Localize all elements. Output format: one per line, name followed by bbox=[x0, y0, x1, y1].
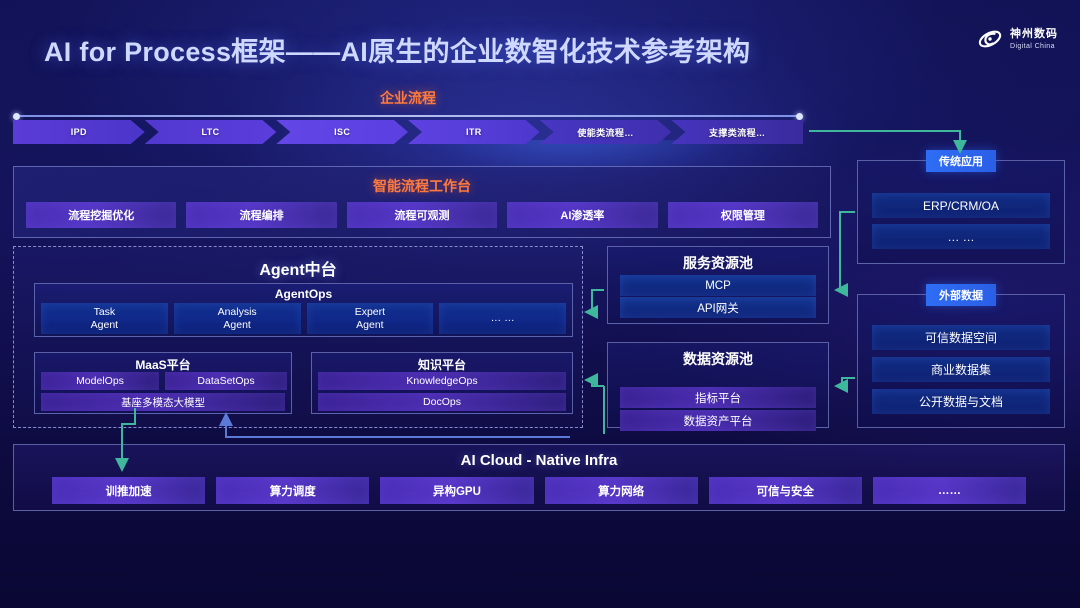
process-chevron-bar: IPD LTC ISC ITR 使能类流程… 支撑类流程… bbox=[13, 120, 803, 144]
workbench-panel: 智能流程工作台 流程挖掘优化 流程编排 流程可观测 AI渗透率 权限管理 bbox=[13, 166, 831, 238]
infra-item-heterogeneous-gpu[interactable]: 异构GPU bbox=[380, 477, 533, 504]
wire-data-pool-to-knowledge bbox=[586, 380, 604, 386]
maas-item-modelops[interactable]: ModelOps bbox=[41, 372, 159, 390]
swirl-logo-icon bbox=[977, 26, 1003, 52]
legacy-apps-panel: 传统应用 ERP/CRM/OA … … bbox=[857, 160, 1065, 264]
process-step-isc[interactable]: ISC bbox=[276, 120, 408, 144]
logo-cn-text: 神州数码 bbox=[1010, 29, 1058, 40]
service-pool-panel: 服务资源池 MCP API网关 bbox=[607, 246, 829, 324]
process-rail-line bbox=[16, 115, 800, 117]
process-step-label: LTC bbox=[201, 127, 219, 137]
external-data-tag: 外部数据 bbox=[926, 284, 996, 306]
process-rail-dot-left bbox=[13, 113, 20, 120]
agent-card-line1: Expert bbox=[355, 306, 385, 319]
wire-legacy-to-service-pool bbox=[836, 212, 855, 290]
infra-item-trust-security[interactable]: 可信与安全 bbox=[709, 477, 862, 504]
wire-process-to-legacy bbox=[809, 131, 960, 152]
data-pool-item-metrics[interactable]: 指标平台 bbox=[620, 387, 816, 408]
knowledge-panel: 知识平台 KnowledgeOps DocOps bbox=[311, 352, 573, 414]
slide-canvas: AI for Process框架——AI原生的企业数智化技术参考架构 神州数码 … bbox=[0, 0, 1080, 608]
external-data-panel: 外部数据 可信数据空间 商业数据集 公开数据与文档 bbox=[857, 294, 1065, 428]
infra-panel: AI Cloud - Native Infra 训推加速 算力调度 异构GPU … bbox=[13, 444, 1065, 511]
agent-card-expert[interactable]: Expert Agent bbox=[307, 303, 434, 334]
process-section-title: 企业流程 bbox=[0, 88, 816, 108]
agent-card-line1: Task bbox=[94, 306, 116, 319]
wire-service-pool-to-agent bbox=[586, 290, 604, 312]
agentops-panel: AgentOps Task Agent Analysis Agent Exper… bbox=[34, 283, 573, 337]
agentops-cells: Task Agent Analysis Agent Expert Agent …… bbox=[41, 303, 566, 334]
workbench-item-observability[interactable]: 流程可观测 bbox=[347, 202, 497, 228]
external-data-item-commercial[interactable]: 商业数据集 bbox=[872, 357, 1050, 382]
workbench-items: 流程挖掘优化 流程编排 流程可观测 AI渗透率 权限管理 bbox=[26, 202, 818, 228]
process-step-label: 使能类流程… bbox=[577, 126, 633, 139]
agent-zone-title: Agent中台 bbox=[14, 256, 582, 280]
service-pool-item-mcp[interactable]: MCP bbox=[620, 275, 816, 296]
external-data-item-public-docs[interactable]: 公开数据与文档 bbox=[872, 389, 1050, 414]
page-title: AI for Process框架——AI原生的企业数智化技术参考架构 bbox=[44, 30, 750, 69]
workbench-item-mining[interactable]: 流程挖掘优化 bbox=[26, 202, 176, 228]
agent-card-line1: Analysis bbox=[218, 306, 257, 319]
data-pool-item-data-assets[interactable]: 数据资产平台 bbox=[620, 410, 816, 431]
process-rail-dot-right bbox=[796, 113, 803, 120]
data-pool-panel: 数据资源池 指标平台 数据资产平台 bbox=[607, 342, 829, 428]
agent-card-analysis[interactable]: Analysis Agent bbox=[174, 303, 301, 334]
process-step-label: ISC bbox=[334, 127, 350, 137]
legacy-apps-item-erp[interactable]: ERP/CRM/OA bbox=[872, 193, 1050, 218]
workbench-title: 智能流程工作台 bbox=[14, 176, 830, 196]
process-step-supporting[interactable]: 支撑类流程… bbox=[671, 120, 803, 144]
workbench-item-permissions[interactable]: 权限管理 bbox=[668, 202, 818, 228]
maas-title: MaaS平台 bbox=[35, 356, 291, 373]
agent-card-task[interactable]: Task Agent bbox=[41, 303, 168, 334]
service-pool-title: 服务资源池 bbox=[608, 253, 828, 273]
data-pool-title: 数据资源池 bbox=[608, 349, 828, 369]
maas-item-foundation-model[interactable]: 基座多模态大模型 bbox=[41, 393, 285, 411]
process-step-itr[interactable]: ITR bbox=[408, 120, 540, 144]
process-step-ltc[interactable]: LTC bbox=[145, 120, 277, 144]
logo-en-text: Digital China bbox=[1010, 43, 1058, 50]
agent-card-line1: … … bbox=[491, 312, 515, 325]
legacy-apps-tag: 传统应用 bbox=[926, 150, 996, 172]
knowledge-item-knowledgeops[interactable]: KnowledgeOps bbox=[318, 372, 566, 390]
agent-card-more[interactable]: … … bbox=[439, 303, 566, 334]
maas-item-datasetops[interactable]: DataSetOps bbox=[165, 372, 287, 390]
maas-panel: MaaS平台 ModelOps DataSetOps 基座多模态大模型 bbox=[34, 352, 292, 414]
infra-title: AI Cloud - Native Infra bbox=[14, 452, 1064, 469]
external-data-item-trusted-space[interactable]: 可信数据空间 bbox=[872, 325, 1050, 350]
service-pool-item-api-gateway[interactable]: API网关 bbox=[620, 297, 816, 318]
agent-card-line2: Agent bbox=[91, 319, 118, 332]
process-step-enabling[interactable]: 使能类流程… bbox=[540, 120, 672, 144]
infra-item-more[interactable]: …… bbox=[873, 477, 1026, 504]
process-step-label: 支撑类流程… bbox=[709, 126, 765, 139]
process-step-ipd[interactable]: IPD bbox=[13, 120, 145, 144]
process-step-label: IPD bbox=[71, 127, 87, 137]
knowledge-item-docops[interactable]: DocOps bbox=[318, 393, 566, 411]
workbench-item-ai-penetration[interactable]: AI渗透率 bbox=[507, 202, 657, 228]
brand-logo: 神州数码 Digital China bbox=[977, 26, 1058, 52]
infra-item-compute-scheduling[interactable]: 算力调度 bbox=[216, 477, 369, 504]
process-step-label: ITR bbox=[466, 127, 482, 137]
wire-external-to-data-pool bbox=[836, 378, 855, 386]
agentops-title: AgentOps bbox=[35, 287, 572, 301]
agent-card-line2: Agent bbox=[356, 319, 383, 332]
agent-card-line2: Agent bbox=[223, 319, 250, 332]
knowledge-title: 知识平台 bbox=[312, 356, 572, 373]
process-rail bbox=[13, 113, 803, 119]
infra-item-compute-network[interactable]: 算力网络 bbox=[545, 477, 698, 504]
infra-items: 训推加速 算力调度 异构GPU 算力网络 可信与安全 …… bbox=[52, 477, 1026, 504]
legacy-apps-item-more[interactable]: … … bbox=[872, 224, 1050, 249]
infra-item-train-infer-accel[interactable]: 训推加速 bbox=[52, 477, 205, 504]
workbench-item-orchestration[interactable]: 流程编排 bbox=[186, 202, 336, 228]
